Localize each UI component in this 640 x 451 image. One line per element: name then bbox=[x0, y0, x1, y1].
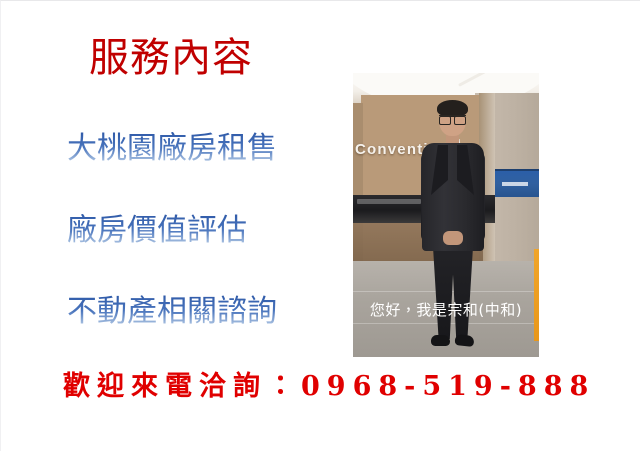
legs bbox=[433, 247, 473, 339]
glasses-icon bbox=[439, 115, 466, 123]
service-item-3: 不動產相關諮詢 bbox=[67, 295, 277, 330]
photo-caption: 您好，我是宗和(中和) bbox=[353, 301, 539, 319]
service-item-1: 大桃園廠房租售 bbox=[67, 132, 277, 167]
slide-canvas: 服務內容 大桃園廠房租售 廠房價值評估 不動產相關諮詢 歡迎來電洽詢：0968-… bbox=[0, 0, 640, 451]
clasped-hands bbox=[443, 231, 463, 245]
contact-phone-line: 歡迎來電洽詢：0968-519-888 bbox=[63, 372, 595, 402]
page-title: 服務內容 bbox=[89, 35, 253, 81]
left-shoe bbox=[431, 335, 450, 346]
blue-wall-plaque bbox=[495, 169, 539, 197]
service-item-2: 廠房價值評估 bbox=[67, 214, 247, 249]
orange-edge-strip bbox=[534, 249, 539, 341]
right-shoe bbox=[454, 334, 474, 347]
agent-photo: Convention Ce bbox=[353, 73, 539, 357]
